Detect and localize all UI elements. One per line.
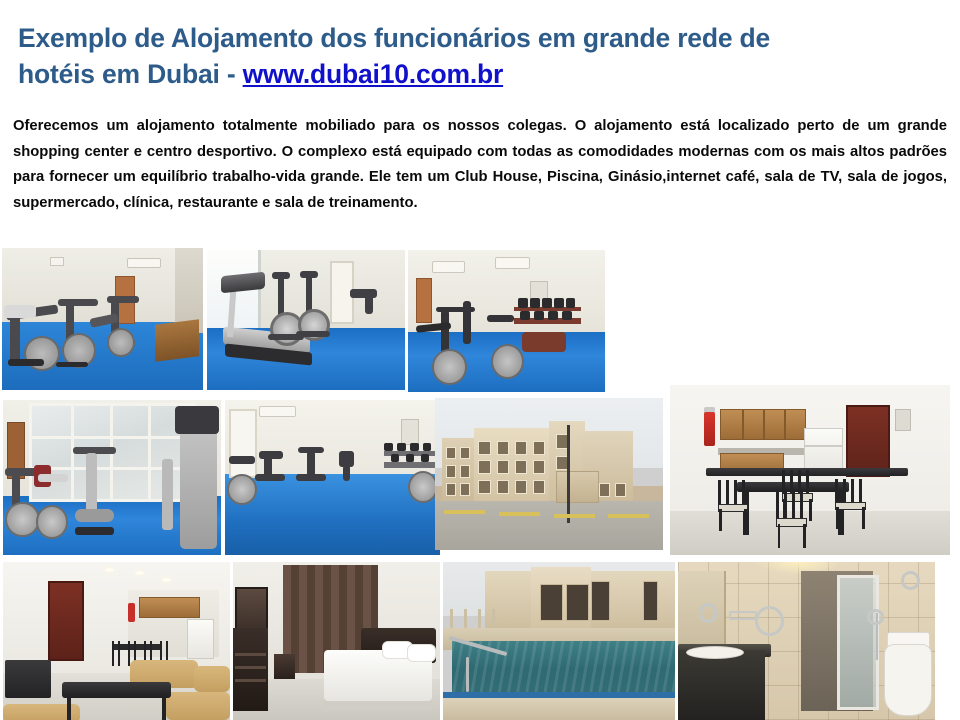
photo-bedroom (233, 562, 440, 720)
photo-gym-openfloor (225, 400, 440, 555)
title-line-1: Exemplo de Alojamento dos funcionários e… (18, 20, 948, 56)
photo-bathroom (678, 562, 935, 720)
photo-living-room (3, 562, 230, 720)
website-link[interactable]: www.dubai10.com.br (243, 59, 503, 89)
description-text: Oferecemos um alojamento totalmente mobi… (13, 114, 947, 216)
photo-gym-treadmill (207, 250, 405, 390)
page-title: Exemplo de Alojamento dos funcionários e… (18, 20, 948, 92)
photo-building (435, 398, 663, 550)
photo-gym-glasswall (3, 400, 221, 555)
photo-kitchen-dining (670, 385, 950, 555)
photo-pool (443, 562, 675, 720)
photo-gym-dumbbells (408, 250, 605, 392)
title-line-2: hotéis em Dubai - www.dubai10.com.br (18, 56, 948, 92)
slide-canvas: Exemplo de Alojamento dos funcionários e… (0, 0, 960, 720)
title-line-2-text: hotéis em Dubai - (18, 59, 243, 89)
photo-gym-bikes (2, 248, 203, 390)
description-paragraph: Oferecemos um alojamento totalmente mobi… (13, 114, 947, 216)
